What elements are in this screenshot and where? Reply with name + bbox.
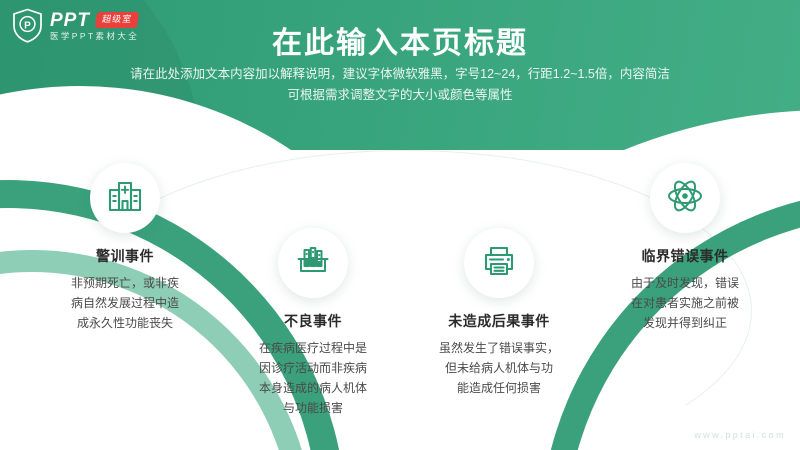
info-item-2[interactable]: 不良事件 在疾病医疗过程中是 因诊疗活动而非疾病 本身造成的病人机体 与功能损害 [218, 228, 408, 418]
info-item-1-desc: 非预期死亡，或非疾 病自然发展过程中造 成永久性功能丧失 [30, 273, 220, 333]
printer-icon [481, 243, 517, 284]
brand-logo[interactable]: P PPT 超级室 医学PPT素材大全 [12, 8, 139, 43]
info-item-1[interactable]: 警训事件 非预期死亡，或非疾 病自然发展过程中造 成永久性功能丧失 [30, 163, 220, 333]
info-item-2-desc: 在疾病医疗过程中是 因诊疗活动而非疾病 本身造成的病人机体 与功能损害 [218, 338, 408, 418]
icon-circle-1 [90, 163, 160, 233]
icon-circle-2 [278, 228, 348, 298]
page-subtitle-line-1: 请在此处添加文本内容加以解释说明，建议字体微软雅黑，字号12~24，行距1.2~… [0, 64, 800, 85]
info-item-2-desc-line-3: 本身造成的病人机体 [218, 378, 408, 398]
info-item-2-desc-line-1: 在疾病医疗过程中是 [218, 338, 408, 358]
info-item-1-desc-line-3: 成永久性功能丧失 [30, 313, 220, 333]
info-item-4-title: 临界错误事件 [590, 246, 780, 266]
info-item-2-desc-line-4: 与功能损害 [218, 398, 408, 418]
info-item-2-title: 不良事件 [218, 311, 408, 331]
icon-circle-3 [464, 228, 534, 298]
info-item-4[interactable]: 临界错误事件 由于及时发现，错误 在对患者实施之前被 发现并得到纠正 [590, 163, 780, 333]
info-item-4-desc-line-3: 发现并得到纠正 [590, 313, 780, 333]
info-item-1-desc-line-2: 病自然发展过程中造 [30, 293, 220, 313]
info-item-1-title: 警训事件 [30, 246, 220, 266]
info-item-3-desc-line-1: 虽然发生了错误事实， [404, 338, 594, 358]
info-item-3-desc: 虽然发生了错误事实， 但未给病人机体与功 能造成任何损害 [404, 338, 594, 398]
info-item-3-desc-line-2: 但未给病人机体与功 [404, 358, 594, 378]
info-item-1-desc-line-1: 非预期死亡，或非疾 [30, 273, 220, 293]
info-item-4-desc-line-1: 由于及时发现，错误 [590, 273, 780, 293]
logo-brand-text: PPT [50, 11, 90, 30]
info-item-3-title: 未造成后果事件 [404, 311, 594, 331]
info-item-3-desc-line-3: 能造成任何损害 [404, 378, 594, 398]
info-item-3[interactable]: 未造成后果事件 虽然发生了错误事实， 但未给病人机体与功 能造成任何损害 [404, 228, 594, 398]
logo-primary-row: PPT 超级室 [50, 11, 139, 30]
test-tube-rack-icon [295, 243, 331, 284]
icon-circle-4 [650, 163, 720, 233]
shield-p-icon: P [12, 8, 43, 43]
logo-text-group: PPT 超级室 医学PPT素材大全 [50, 11, 139, 41]
site-watermark: www.pptai.com [694, 430, 786, 440]
svg-text:P: P [24, 20, 31, 31]
header-decor-arc-white-right [330, 110, 800, 150]
info-item-4-desc: 由于及时发现，错误 在对患者实施之前被 发现并得到纠正 [590, 273, 780, 333]
info-item-4-desc-line-2: 在对患者实施之前被 [590, 293, 780, 313]
hospital-building-icon [106, 177, 144, 220]
logo-badge: 超级室 [95, 12, 139, 28]
atom-molecule-icon [666, 177, 704, 220]
page-subtitle: 请在此处添加文本内容加以解释说明，建议字体微软雅黑，字号12~24，行距1.2~… [0, 64, 800, 106]
info-item-2-desc-line-2: 因诊疗活动而非疾病 [218, 358, 408, 378]
page-subtitle-line-2: 可根据需求调整文字的大小或颜色等属性 [0, 85, 800, 106]
logo-tagline: 医学PPT素材大全 [50, 32, 139, 41]
slide-root: P PPT 超级室 医学PPT素材大全 在此输入本页标题 请在此处添加文本内容加… [0, 0, 800, 450]
